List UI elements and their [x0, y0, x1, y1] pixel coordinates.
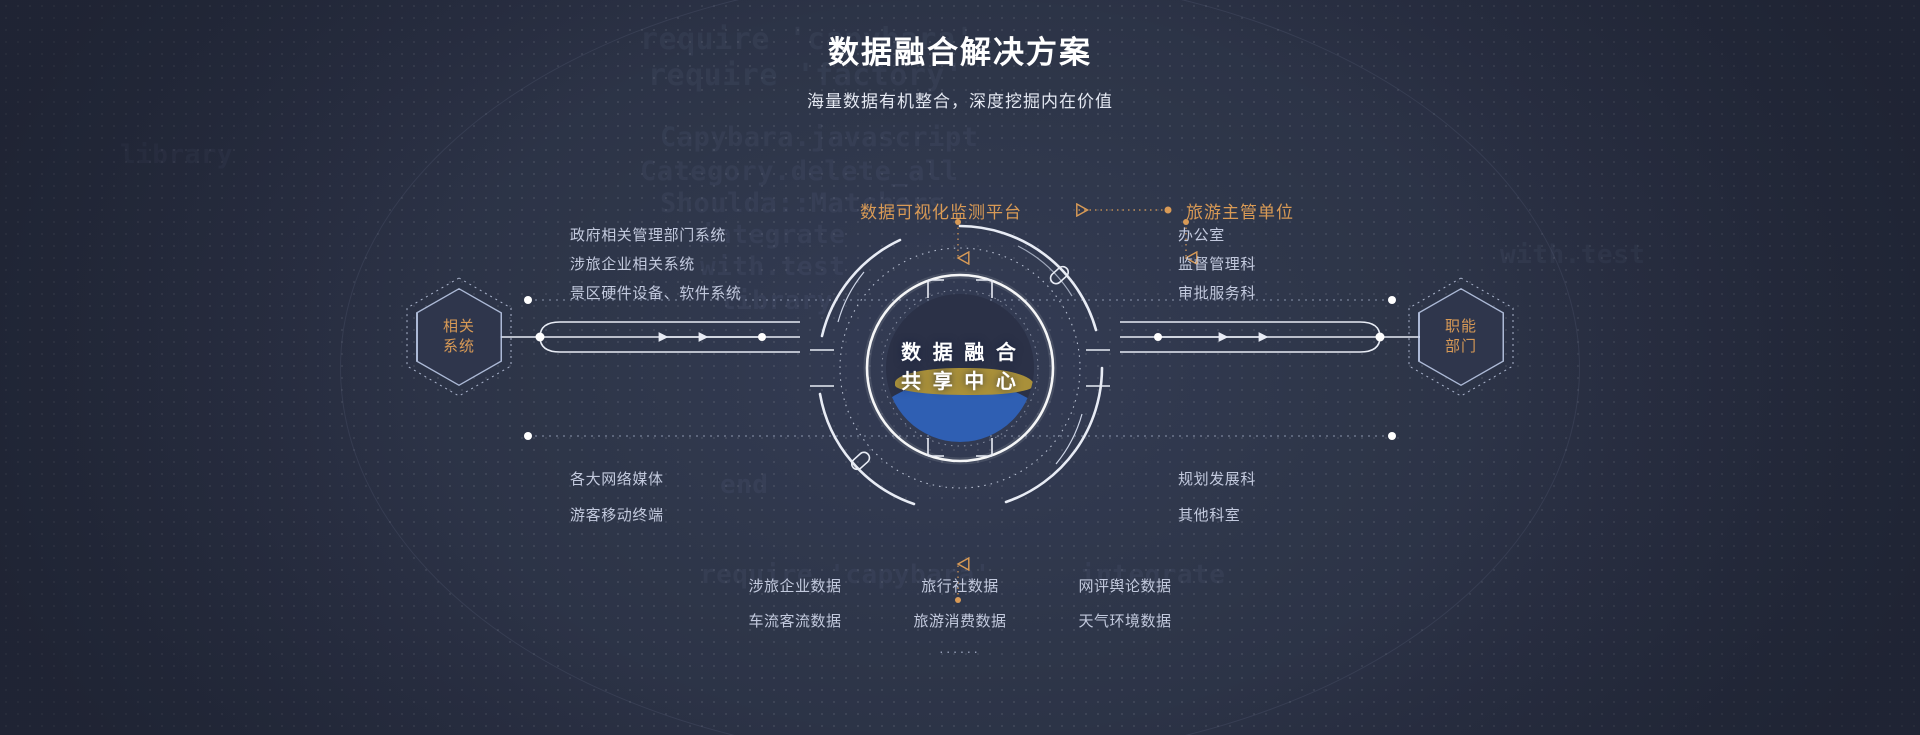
bg-code-text: Category.delete_all [640, 156, 958, 187]
label-left-upper-2[interactable]: 景区硬件设备、软件系统 [570, 282, 742, 303]
bg-code-text: library [120, 140, 233, 170]
page-title: 数据融合解决方案 [0, 34, 1920, 71]
label-left-lower-0[interactable]: 各大网络媒体 [570, 468, 664, 489]
hex-right-line1: 职能 [1445, 317, 1477, 337]
bg-code-text: with.test [1500, 240, 1645, 270]
hex-badge-related-systems[interactable]: 相关 系统 [405, 278, 513, 396]
label-right-upper-0[interactable]: 办公室 [1178, 224, 1225, 245]
core-label: 数 据 融 合 共 享 中 心 [901, 339, 1019, 397]
label-right-upper-2[interactable]: 审批服务科 [1178, 282, 1256, 303]
bottom-data-3[interactable]: 车流客流数据 [735, 610, 855, 631]
label-left-upper-1[interactable]: 涉旅企业相关系统 [570, 253, 695, 274]
bottom-data-5[interactable]: 天气环境数据 [1065, 610, 1185, 631]
label-right-lower-1[interactable]: 其他科室 [1178, 504, 1240, 525]
label-right-lower-0[interactable]: 规划发展科 [1178, 468, 1256, 489]
hex-right-line2: 部门 [1445, 337, 1477, 357]
hex-badge-functional-departments[interactable]: 职能 部门 [1407, 278, 1515, 396]
bottom-data-2[interactable]: 网评舆论数据 [1065, 575, 1185, 596]
heading-block: 数据融合解决方案 海量数据有机整合，深度挖掘内在价值 [0, 34, 1920, 112]
page-subtitle: 海量数据有机整合，深度挖掘内在价值 [0, 87, 1920, 112]
label-visualization-platform[interactable]: 数据可视化监测平台 [860, 198, 1022, 223]
label-right-upper-1[interactable]: 监督管理科 [1178, 253, 1256, 274]
bottom-data-4[interactable]: 旅游消费数据 [900, 610, 1020, 631]
bg-code-text: Capybara.javascript [660, 122, 978, 153]
hex-left-line2: 系统 [443, 337, 475, 357]
label-tourism-authority[interactable]: 旅游主管单位 [1186, 198, 1294, 223]
bottom-data-1[interactable]: 旅行社数据 [900, 575, 1020, 596]
core-label-line1: 数 据 融 合 [901, 339, 1019, 368]
poster-stage: require 'capybara' require 'factory' Cap… [0, 0, 1920, 735]
label-left-upper-0[interactable]: 政府相关管理部门系统 [570, 224, 726, 245]
label-left-lower-1[interactable]: 游客移动终端 [570, 504, 664, 525]
hex-left-line1: 相关 [443, 317, 475, 337]
bottom-data-0[interactable]: 涉旅企业数据 [735, 575, 855, 596]
bg-code-text: end [720, 470, 768, 500]
bottom-ellipsis: ...... [939, 640, 980, 656]
data-fusion-core: 数 据 融 合 共 享 中 心 [810, 218, 1110, 518]
bottom-data-grid: 涉旅企业数据 旅行社数据 网评舆论数据 车流客流数据 旅游消费数据 天气环境数据 [735, 575, 1185, 631]
core-label-line2: 共 享 中 心 [901, 368, 1019, 397]
